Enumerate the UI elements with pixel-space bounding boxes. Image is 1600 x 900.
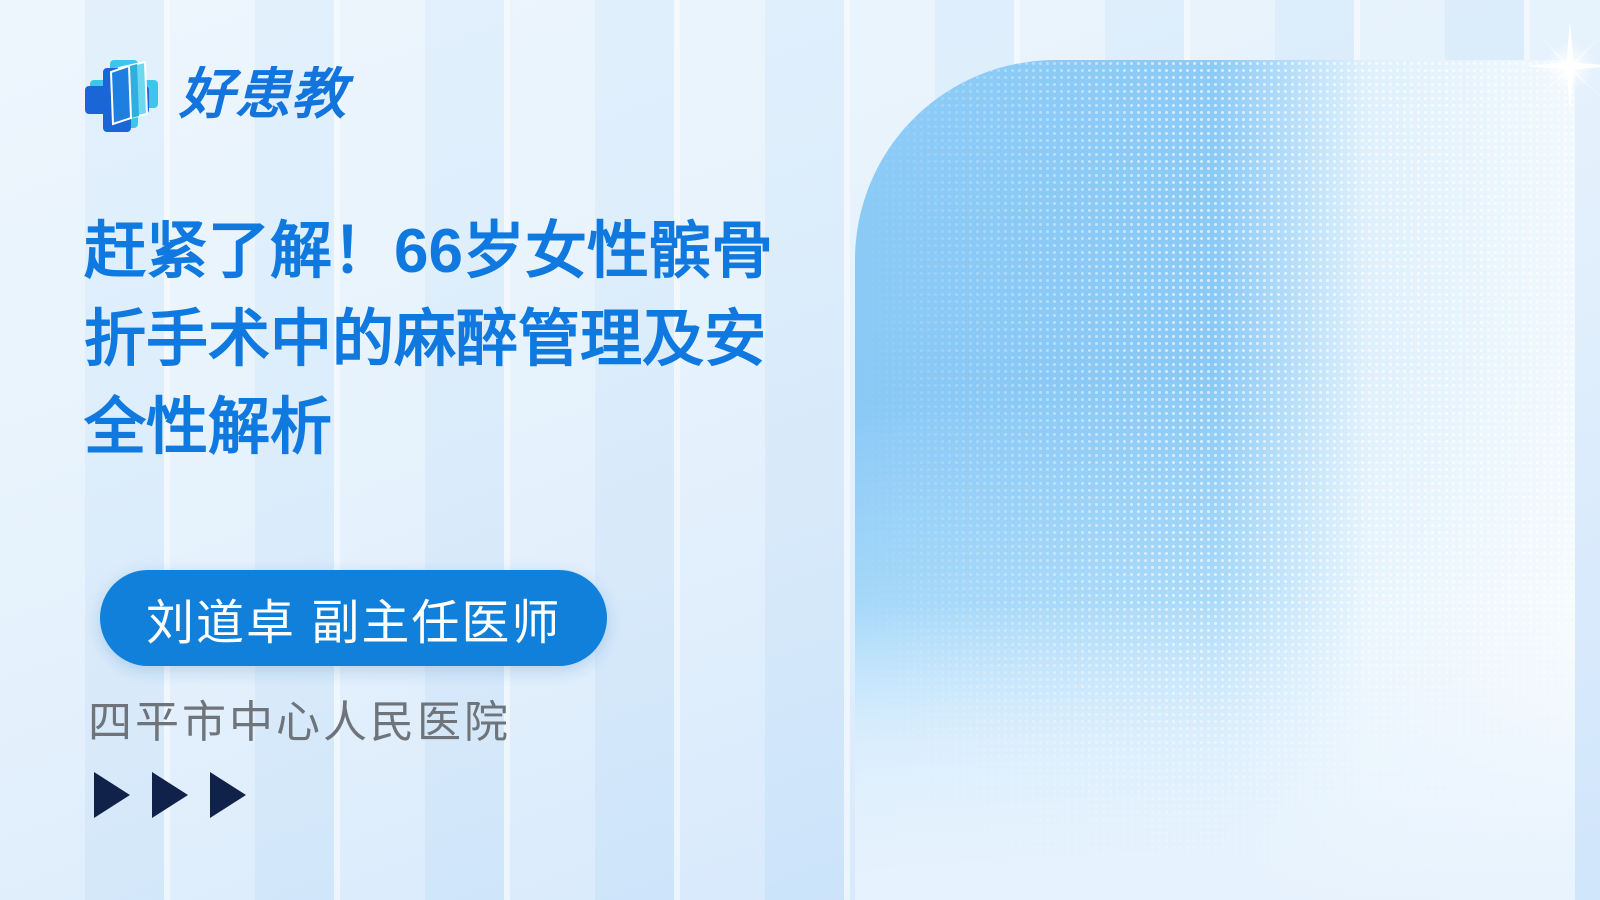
play-arrows — [94, 772, 246, 818]
speaker-badge: 刘道卓 副主任医师 — [100, 570, 607, 666]
hospital-name: 四平市中心人民医院 — [88, 686, 511, 750]
medical-cross-book-icon — [85, 56, 163, 132]
play-triangle-icon — [152, 772, 188, 818]
poster-canvas: 好患教 赶紧了解！66岁女性髌骨 折手术中的麻醉管理及安 全性解析 刘道卓 副主… — [0, 0, 1600, 900]
headline-line-2: 折手术中的麻醉管理及安 — [84, 296, 874, 384]
panel-bottom-fade — [855, 600, 1575, 900]
speaker-badge-label: 刘道卓 副主任医师 — [146, 583, 561, 653]
brand-name: 好患教 — [179, 67, 347, 122]
page-title: 赶紧了解！66岁女性髌骨 折手术中的麻醉管理及安 全性解析 — [84, 208, 874, 472]
play-triangle-icon — [210, 772, 246, 818]
brand-logo[interactable]: 好患教 — [85, 56, 347, 132]
play-triangle-icon — [94, 772, 130, 818]
headline-line-1: 赶紧了解！66岁女性髌骨 — [84, 208, 874, 296]
doctor-panel — [855, 60, 1575, 900]
headline-line-3: 全性解析 — [84, 384, 874, 472]
